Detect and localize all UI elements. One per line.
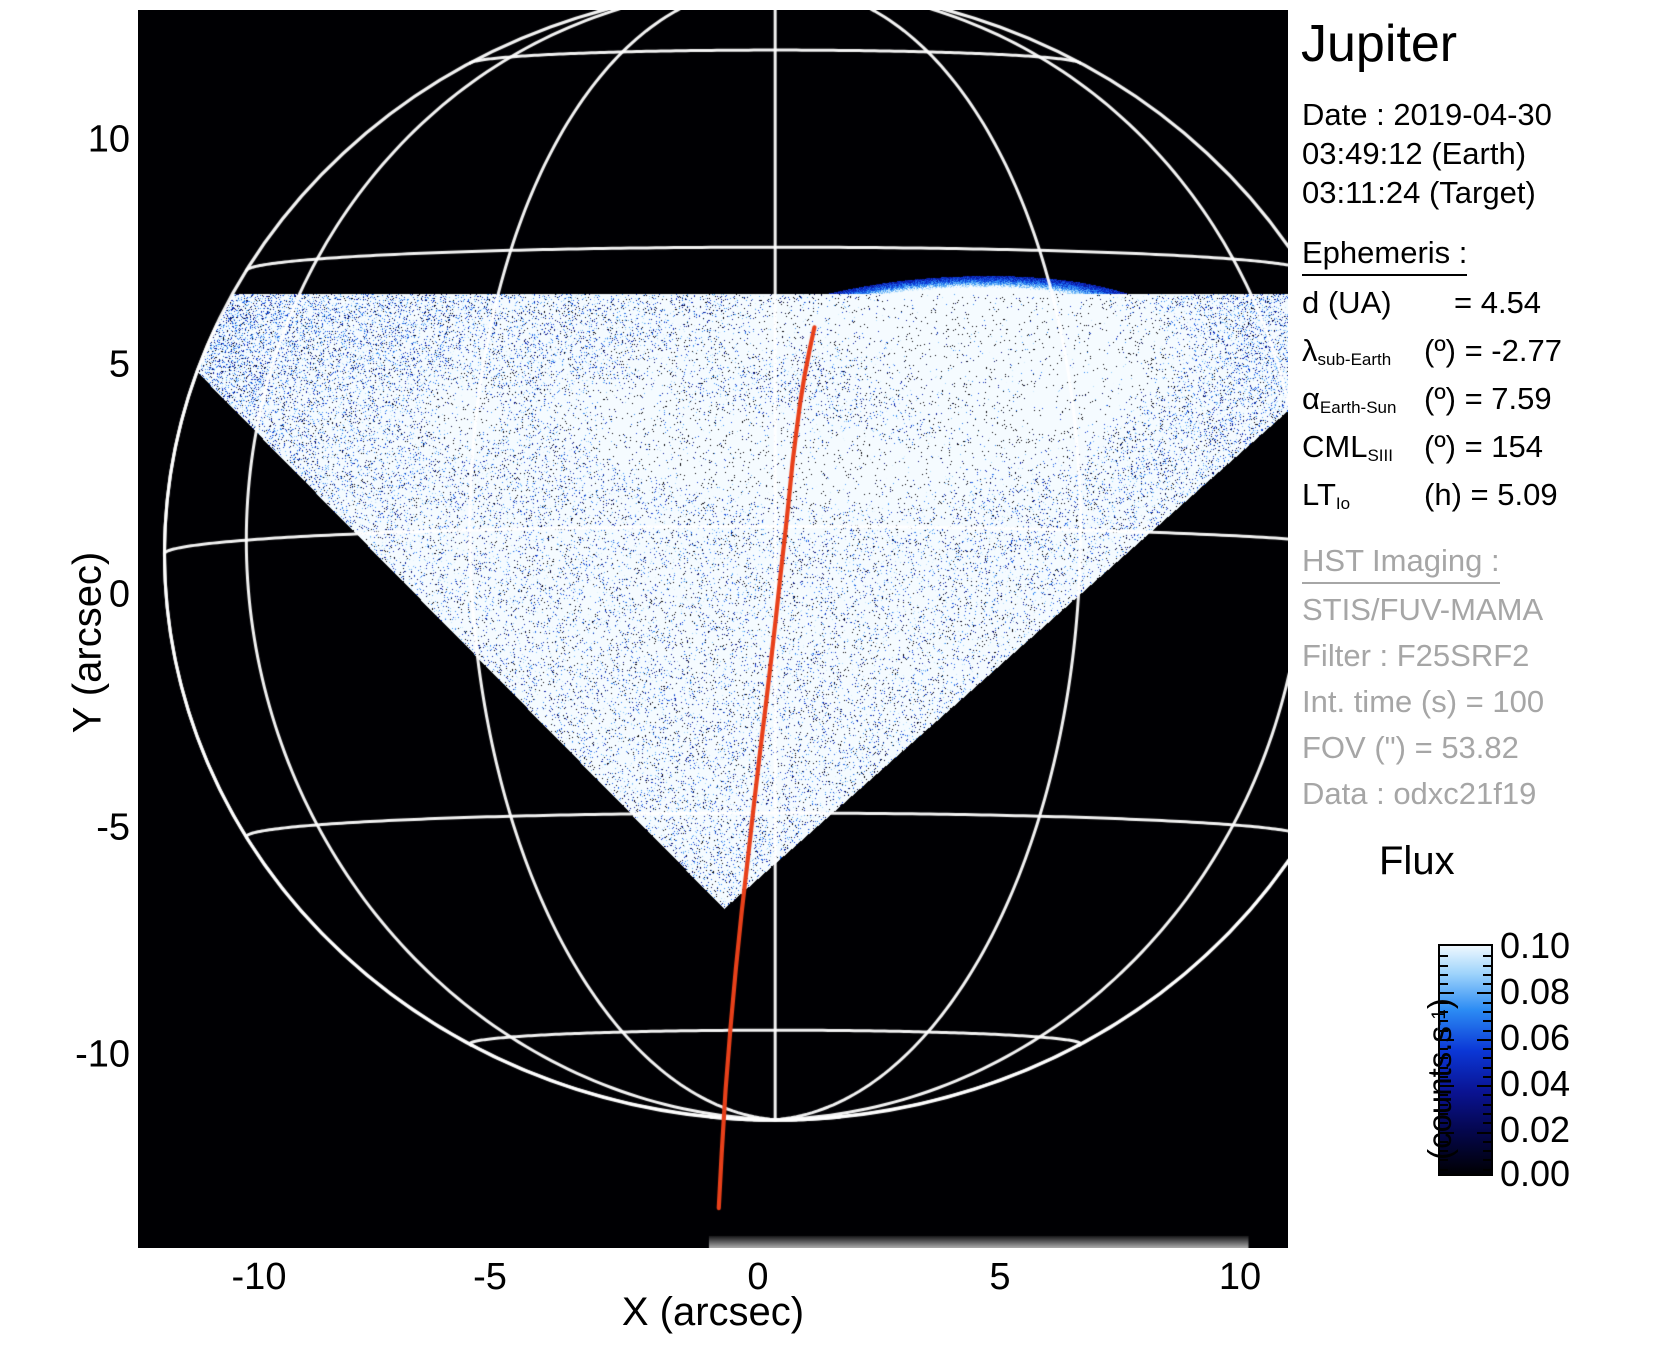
hst-int-time: Int. time (s) = 100	[1302, 684, 1544, 720]
colorbar-minor-tick	[1483, 1048, 1491, 1050]
colorbar-tick-000: 0.00	[1500, 1153, 1570, 1195]
colorbar-title: Flux	[1379, 839, 1455, 884]
colorbar-minor-tick	[1483, 1169, 1491, 1171]
colorbar-minor-tick	[1483, 1122, 1491, 1124]
colorbar-tick-008: 0.08	[1500, 971, 1570, 1013]
colorbar-minor-tick	[1483, 1011, 1491, 1013]
colorbar-minor-tick	[1483, 1159, 1491, 1161]
colorbar-minor-tick	[1483, 1002, 1491, 1004]
ephemeris-unit-alpha: (º)	[1424, 381, 1456, 416]
colorbar-tick-002: 0.02	[1500, 1109, 1570, 1151]
colorbar-minor-tick	[1483, 1141, 1491, 1143]
colorbar-minor-tick	[1483, 1150, 1491, 1152]
x-axis-title: X (arcsec)	[563, 1290, 863, 1335]
ephemeris-row-d: d (UA)= 4.54	[1302, 285, 1541, 321]
ephemeris-heading: Ephemeris :	[1302, 235, 1467, 276]
ephemeris-sub-lambda: sub-Earth	[1318, 350, 1392, 369]
page-title: Jupiter	[1301, 14, 1457, 74]
observation-date: Date : 2019-04-30	[1302, 97, 1552, 133]
colorbar-minor-tick	[1483, 1076, 1491, 1078]
observation-time-earth: 03:49:12 (Earth)	[1302, 136, 1526, 172]
ephemeris-row-lt: LTIo(h) = 5.09	[1302, 477, 1558, 514]
hst-filter: Filter : F25SRF2	[1302, 638, 1529, 674]
colorbar-unit-close: )	[1421, 998, 1458, 1009]
colorbar-minor-tick	[1483, 1057, 1491, 1059]
ephemeris-value-cml: = 154	[1465, 429, 1543, 464]
colorbar-tick-010: 0.10	[1500, 925, 1570, 967]
colorbar-minor-tick	[1477, 1085, 1491, 1087]
colorbar-unit-text: (counts.s	[1421, 1026, 1458, 1160]
hst-imaging-heading: HST Imaging :	[1302, 543, 1500, 584]
ephemeris-row-lambda: λsub-Earth(º) = -2.77	[1302, 333, 1562, 370]
colorbar-minor-tick	[1477, 992, 1491, 994]
x-tick-10: 10	[1180, 1256, 1300, 1299]
ephemeris-value-d: = 4.54	[1454, 285, 1541, 320]
colorbar-tick-006: 0.06	[1500, 1017, 1570, 1059]
observation-time-target: 03:11:24 (Target)	[1302, 175, 1536, 211]
y-tick-neg5: -5	[10, 807, 130, 850]
jupiter-fuv-aurora-image	[138, 10, 1288, 1248]
x-tick-5: 5	[940, 1256, 1060, 1299]
ephemeris-value-lt: = 5.09	[1471, 477, 1558, 512]
ephemeris-label-cml: CML	[1302, 429, 1367, 464]
colorbar-minor-tick	[1483, 1030, 1491, 1032]
ephemeris-row-cml: CMLSIII(º) = 154	[1302, 429, 1543, 466]
hst-data-id: Data : odxc21f19	[1302, 776, 1536, 812]
ephemeris-sub-lt: Io	[1336, 494, 1350, 513]
colorbar-unit-exponent: -1	[1429, 1009, 1450, 1026]
hst-fov: FOV (") = 53.82	[1302, 730, 1519, 766]
ephemeris-unit-lambda: (º)	[1424, 333, 1456, 368]
ephemeris-row-alpha: αEarth-Sun(º) = 7.59	[1302, 381, 1552, 418]
y-tick-5: 5	[10, 344, 130, 387]
ephemeris-sub-alpha: Earth-Sun	[1320, 398, 1397, 417]
colorbar-minor-tick	[1483, 983, 1491, 985]
ephemeris-unit-lt: (h)	[1424, 477, 1462, 512]
colorbar-minor-tick	[1477, 1039, 1491, 1041]
ephemeris-label-lambda: λ	[1302, 333, 1318, 368]
ephemeris-label-lt: LT	[1302, 477, 1336, 512]
colorbar-minor-tick	[1483, 1094, 1491, 1096]
ephemeris-value-alpha: = 7.59	[1465, 381, 1552, 416]
y-axis-title: Y (arcsec)	[66, 493, 111, 793]
colorbar-minor-tick	[1483, 965, 1491, 967]
ephemeris-sub-cml: SIII	[1367, 446, 1393, 465]
aurora-image-plot	[138, 10, 1288, 1248]
x-tick-neg5: -5	[430, 1256, 550, 1299]
y-tick-10: 10	[10, 119, 130, 162]
colorbar-minor-tick	[1477, 1132, 1491, 1134]
ephemeris-label-d: d (UA)	[1302, 285, 1392, 320]
ephemeris-label-alpha: α	[1302, 381, 1320, 416]
colorbar-minor-tick	[1483, 974, 1491, 976]
ephemeris-value-lambda: = -2.77	[1465, 333, 1562, 368]
colorbar-unit-label: (counts.s-1)	[1421, 929, 1459, 1229]
hst-instrument: STIS/FUV-MAMA	[1302, 592, 1543, 628]
colorbar-minor-tick	[1483, 1113, 1491, 1115]
colorbar-minor-tick	[1483, 1104, 1491, 1106]
y-tick-neg10: -10	[10, 1034, 130, 1077]
colorbar-minor-tick	[1483, 1067, 1491, 1069]
colorbar-tick-004: 0.04	[1500, 1063, 1570, 1105]
colorbar-minor-tick	[1483, 955, 1491, 957]
x-tick-neg10: -10	[199, 1256, 319, 1299]
ephemeris-unit-cml: (º)	[1424, 429, 1456, 464]
colorbar-minor-tick	[1483, 1020, 1491, 1022]
